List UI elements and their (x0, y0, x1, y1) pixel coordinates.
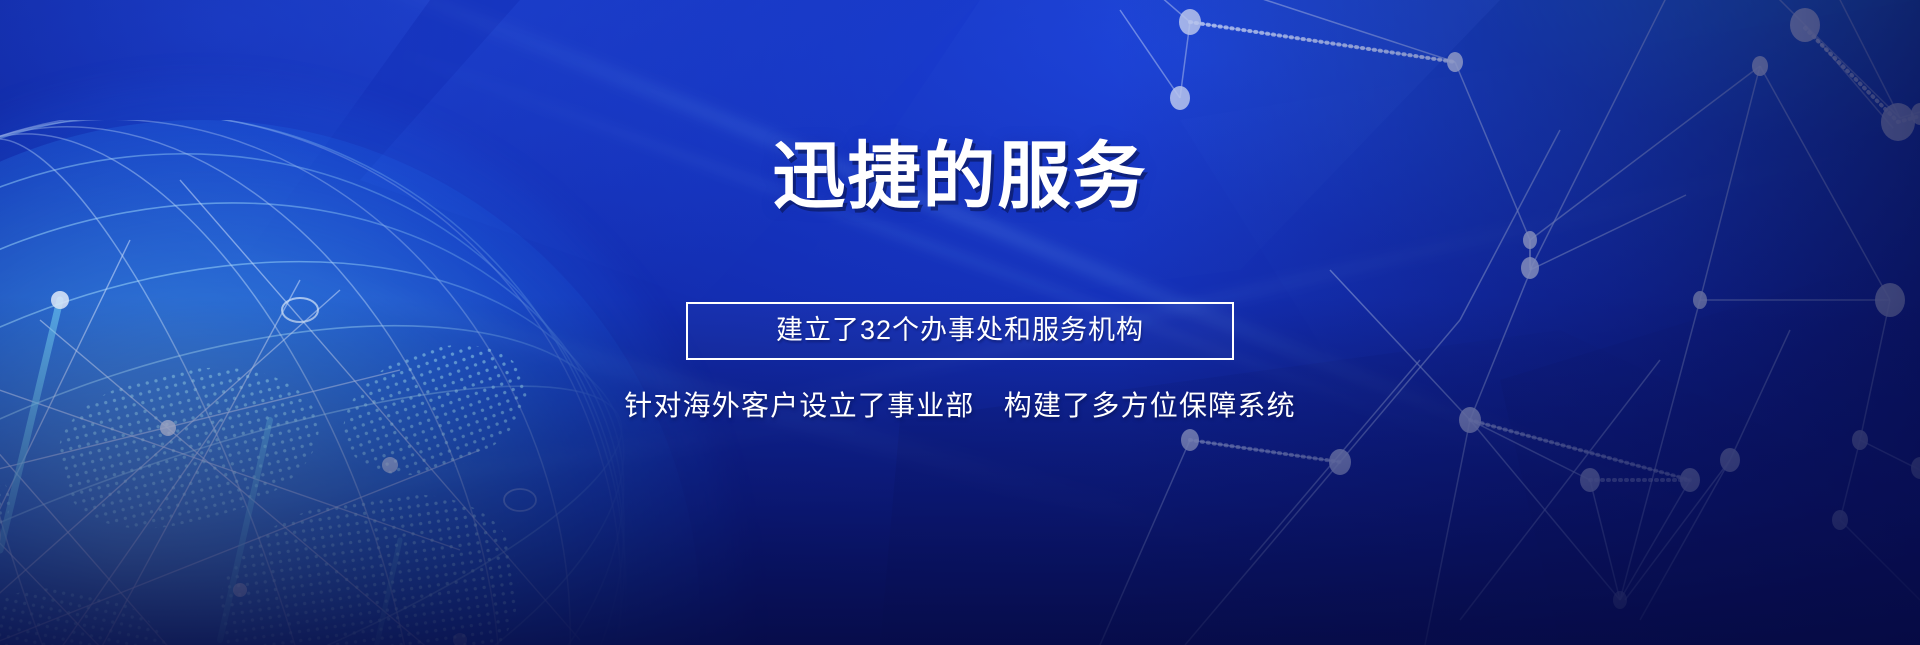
page-title: 迅捷的服务 (773, 140, 1148, 213)
tagline: 针对海外客户设立了事业部 构建了多方位保障系统 (624, 392, 1296, 420)
hero-banner: 迅捷的服务 建立了32个办事处和服务机构 针对海外客户设立了事业部 构建了多方位… (0, 0, 1920, 645)
highlight-box-label: 建立了32个办事处和服务机构 (776, 317, 1144, 344)
highlight-box: 建立了32个办事处和服务机构 (686, 302, 1234, 360)
hero-content: 迅捷的服务 建立了32个办事处和服务机构 针对海外客户设立了事业部 构建了多方位… (0, 0, 1920, 645)
